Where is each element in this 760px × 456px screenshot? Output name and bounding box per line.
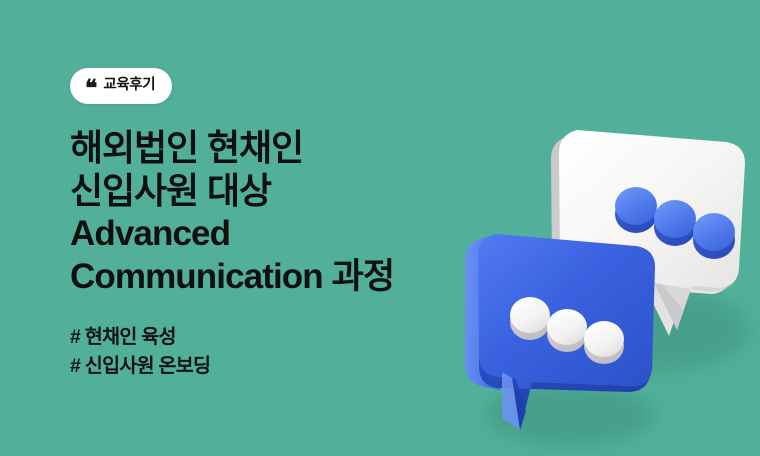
- hashtag-item: # 현채인 육성: [70, 323, 500, 352]
- headline-line-2: 신입사원 대상: [70, 169, 500, 212]
- dot: [615, 187, 657, 233]
- hashtag-item: # 신입사원 온보딩: [70, 352, 500, 381]
- promo-banner: ❝ 교육후기 해외법인 현채인 신입사원 대상 Advanced Communi…: [0, 0, 760, 456]
- hashtag-list: # 현채인 육성 # 신입사원 온보딩: [70, 323, 500, 381]
- review-badge-label: 교육후기: [103, 78, 155, 93]
- dot: [584, 321, 624, 364]
- page-title: 해외법인 현채인 신입사원 대상 Advanced Communication …: [70, 126, 500, 298]
- dot: [654, 200, 696, 246]
- left-double-quote-icon: ❝: [85, 77, 96, 100]
- headline-line-4: Communication 과정: [70, 255, 500, 298]
- dot: [510, 297, 550, 340]
- review-badge: ❝ 교육후기: [70, 68, 172, 104]
- banner-content: ❝ 교육후기 해외법인 현채인 신입사원 대상 Advanced Communi…: [70, 68, 500, 381]
- dot: [547, 309, 587, 352]
- headline-line-3: Advanced: [70, 212, 500, 255]
- dot: [693, 213, 735, 259]
- headline-line-1: 해외법인 현채인: [70, 126, 500, 169]
